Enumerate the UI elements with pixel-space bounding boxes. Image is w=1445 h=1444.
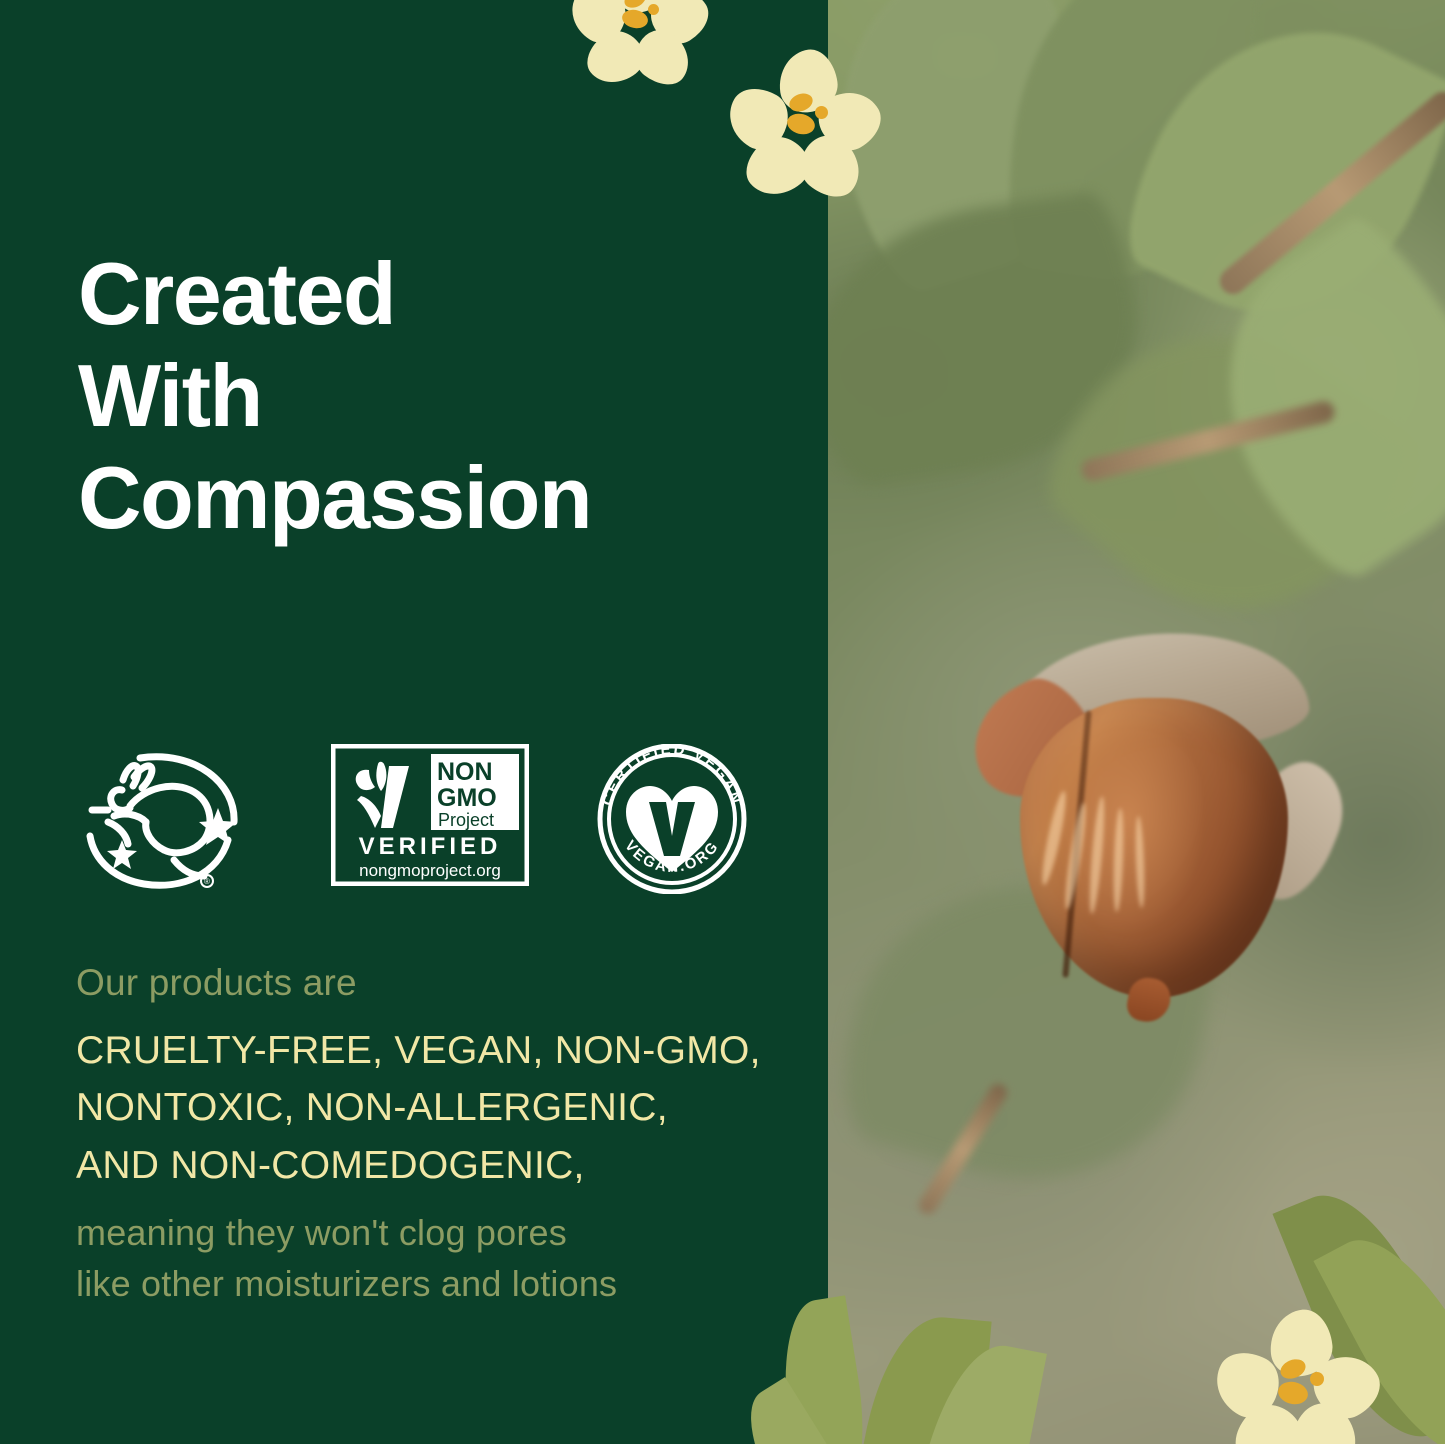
copy-claim-line-1: CRUELTY-FREE, VEGAN, NON-GMO,	[76, 1022, 816, 1080]
headline-line-1: Created	[78, 243, 591, 345]
copy-lead: Our products are	[76, 957, 816, 1010]
star-icon	[107, 840, 137, 869]
flower-center	[1276, 1379, 1310, 1407]
certified-vegan-badge: CERTIFIED VEGAN VEGAN.ORG	[592, 744, 752, 894]
page-title: Created With Compassion	[78, 243, 591, 549]
headline-line-3: Compassion	[78, 447, 591, 549]
green-content-panel: Created With Compassion	[0, 0, 828, 1444]
decorative-flower	[574, 0, 704, 88]
flower-center	[648, 4, 659, 15]
certified-vegan-icon: CERTIFIED VEGAN VEGAN.ORG	[592, 744, 752, 894]
non-gmo-project-badge: NON GMO Project VERIFIED nongmoproject.o…	[331, 744, 529, 886]
decorative-flower	[733, 56, 875, 198]
project-label: Project	[438, 810, 494, 830]
copy-tail-line-1: meaning they won't clog pores	[76, 1207, 816, 1258]
body-copy: Our products are CRUELTY-FREE, VEGAN, NO…	[76, 957, 816, 1309]
certification-badges: ®	[78, 744, 768, 896]
flower-center	[1310, 1372, 1324, 1386]
copy-claim-line-3: AND NON-COMEDOGENIC,	[76, 1137, 816, 1195]
flower-center	[785, 111, 817, 137]
leaping-bunny-badge: ®	[78, 744, 248, 894]
non-gmo-verified-icon: NON GMO Project VERIFIED nongmoproject.o…	[331, 744, 529, 886]
flower-center	[815, 106, 828, 119]
promotional-banner: Created With Compassion	[0, 0, 1445, 1444]
verified-label: VERIFIED	[359, 833, 502, 860]
certified-vegan-arc-top: CERTIFIED VEGAN	[599, 744, 745, 808]
nongmo-url: nongmoproject.org	[359, 861, 501, 880]
headline-line-2: With	[78, 345, 591, 447]
nut-body	[1020, 698, 1288, 998]
registered-mark: ®	[204, 877, 210, 886]
copy-claim-line-2: NONTOXIC, NON-ALLERGENIC,	[76, 1079, 816, 1137]
leaping-bunny-icon: ®	[78, 744, 248, 894]
decorative-flower	[1222, 1318, 1372, 1444]
non-label: NON	[437, 758, 493, 786]
jojoba-nut	[978, 640, 1338, 1020]
copy-tail-line-2: like other moisturizers and lotions	[76, 1258, 816, 1309]
gmo-label: GMO	[437, 784, 497, 812]
